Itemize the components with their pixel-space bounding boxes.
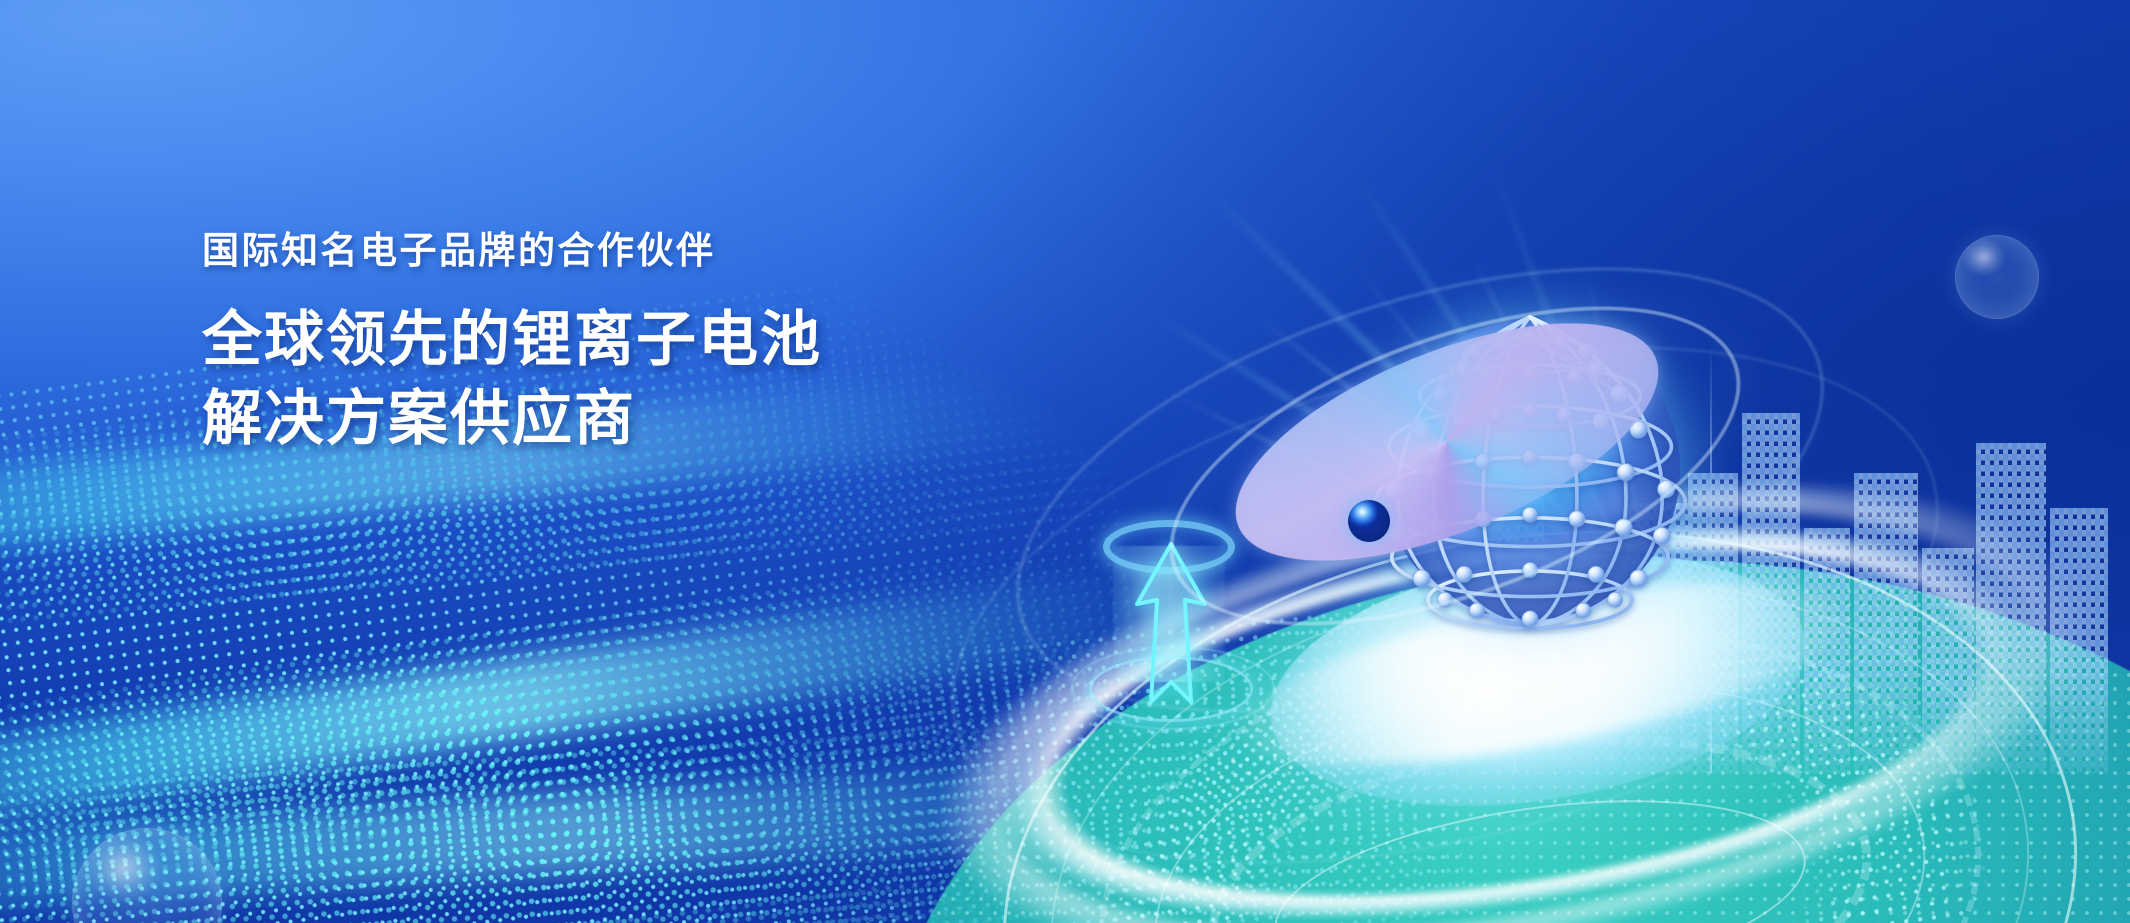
banner-copy: 国际知名电子品牌的合作伙伴 全球领先的锂离子电池 解决方案供应商 — [202, 228, 822, 459]
banner-headline-line-2: 解决方案供应商 — [202, 379, 822, 458]
banner-headline: 全球领先的锂离子电池 解决方案供应商 — [202, 300, 822, 458]
hero-banner: 国际知名电子品牌的合作伙伴 全球领先的锂离子电池 解决方案供应商 — [0, 0, 2130, 923]
orbit-node-sphere — [1348, 500, 1390, 542]
banner-subheadline: 国际知名电子品牌的合作伙伴 — [202, 228, 822, 274]
bubble-top-right — [1955, 235, 2039, 319]
banner-headline-line-1: 全球领先的锂离子电池 — [202, 300, 822, 379]
